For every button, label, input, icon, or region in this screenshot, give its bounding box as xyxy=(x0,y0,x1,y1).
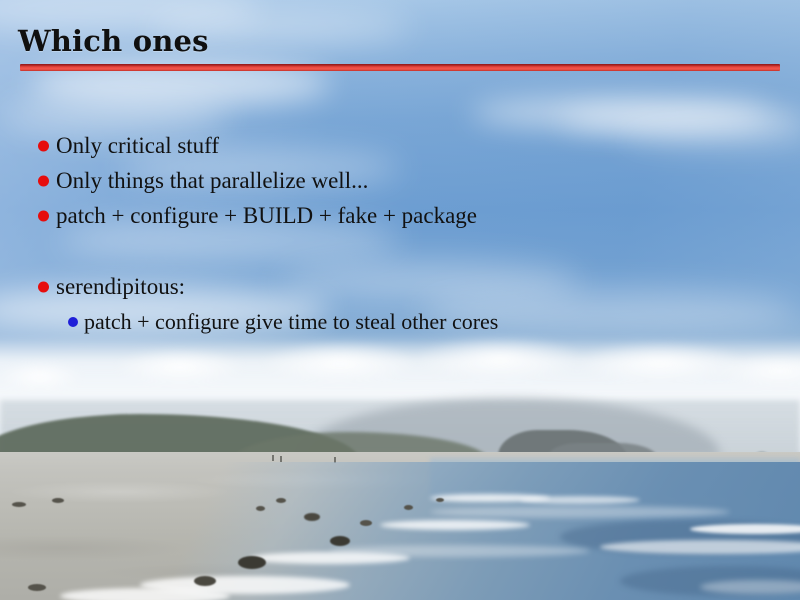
sea-foam xyxy=(380,520,530,530)
bullet-dot-icon xyxy=(38,175,49,186)
beach-rock xyxy=(276,498,286,503)
list-item-label: Only critical stuff xyxy=(56,128,219,163)
list-item-label: patch + configure + BUILD + fake + packa… xyxy=(56,198,477,233)
beach-rock xyxy=(360,520,372,526)
beach-rock xyxy=(404,505,413,510)
bullet-dot-icon xyxy=(38,281,49,292)
beach-rock xyxy=(194,576,216,586)
list-item[interactable]: patch + configure + BUILD + fake + packa… xyxy=(0,198,800,233)
wave-crest xyxy=(430,506,730,518)
list-item-label: serendipitous: xyxy=(56,269,185,304)
list-item-sub[interactable]: patch + configure give time to steal oth… xyxy=(0,304,800,339)
list-item-label: Only things that parallelize well... xyxy=(56,163,368,198)
list-item-label: patch + configure give time to steal oth… xyxy=(84,304,498,339)
beach-rock xyxy=(304,513,320,521)
bullet-list: Only critical stuff Only things that par… xyxy=(0,128,800,339)
bullet-dot-icon xyxy=(38,210,49,221)
bullet-dot-icon xyxy=(68,317,78,327)
beach-rock xyxy=(256,506,265,511)
beach-rock xyxy=(238,556,266,569)
beach-rock xyxy=(28,584,46,591)
sea-foam xyxy=(60,588,230,600)
list-item[interactable]: serendipitous: xyxy=(0,269,800,304)
page-title: Which ones xyxy=(18,24,209,58)
list-item[interactable]: Only things that parallelize well... xyxy=(0,163,800,198)
sea-foam xyxy=(250,552,410,564)
beach-figure xyxy=(272,455,274,461)
beach-rock xyxy=(436,498,444,502)
sea-foam xyxy=(430,494,550,502)
beach-rock xyxy=(330,536,350,546)
bullet-dot-icon xyxy=(38,140,49,151)
title-divider xyxy=(20,64,780,71)
presentation-slide: Which ones Only critical stuff Only thin… xyxy=(0,0,800,600)
list-spacer xyxy=(0,233,800,269)
beach-rock xyxy=(12,502,26,507)
list-item[interactable]: Only critical stuff xyxy=(0,128,800,163)
beach-rock xyxy=(52,498,64,503)
